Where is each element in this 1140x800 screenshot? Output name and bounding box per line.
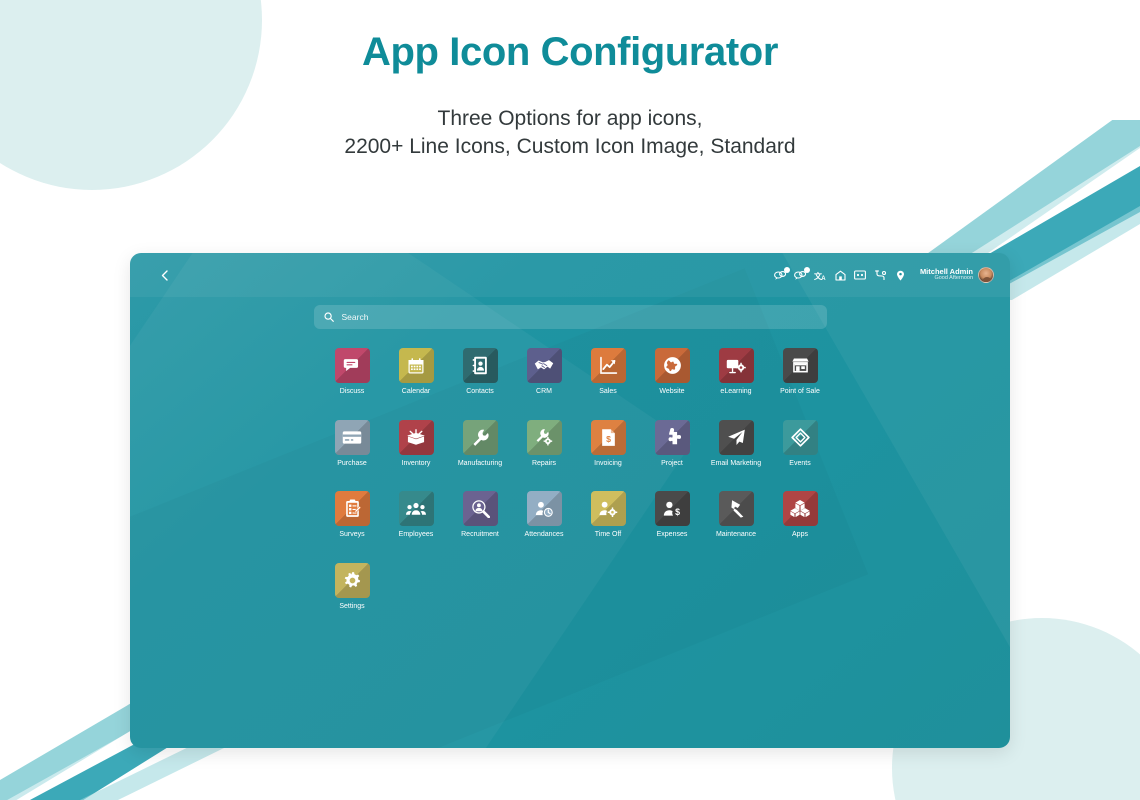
app-icon-surveys[interactable]: Surveys [320,491,384,539]
storefront-icon[interactable] [783,348,818,383]
app-icon-employees[interactable]: Employees [384,491,448,539]
search-row [130,305,1010,329]
window-header: 文 A [130,253,1010,297]
svg-text:A: A [821,276,826,281]
app-icon-contacts[interactable]: Contacts [448,348,512,396]
app-icon-invoicing[interactable]: $Invoicing [576,420,640,468]
app-label: Inventory [402,460,431,468]
app-label: Time Off [595,531,621,539]
app-label: Purchase [337,460,367,468]
user-menu[interactable]: Mitchell Admin Good Afternoon [920,267,994,283]
search-bar[interactable] [314,305,827,329]
app-label: Website [659,388,684,396]
app-icon-project[interactable]: Project [640,420,704,468]
svg-text:$: $ [606,434,611,444]
app-icon-crm[interactable]: CRM [512,348,576,396]
globe-icon[interactable] [655,348,690,383]
chart-arrow-up-icon[interactable] [591,348,626,383]
magnifier-person-icon[interactable] [463,491,498,526]
person-dollar-icon[interactable]: $ [655,491,690,526]
credit-card-icon[interactable] [335,420,370,455]
people-group-icon[interactable] [399,491,434,526]
app-label: Email Marketing [711,460,761,468]
app-label: Invoicing [594,460,622,468]
wrench-gear-icon[interactable] [527,420,562,455]
company-icon[interactable] [834,269,847,282]
app-label: Calendar [402,388,430,396]
handshake-icon[interactable] [527,348,562,383]
hammer-icon[interactable] [719,491,754,526]
app-icon-calendar[interactable]: Calendar [384,348,448,396]
svg-text:$: $ [675,507,680,517]
page-subtitle: Three Options for app icons, 2200+ Line … [0,105,1140,161]
address-book-icon[interactable] [463,348,498,383]
decorative-circle-top-left [0,0,262,190]
app-icon-grid: DiscussCalendarContactsCRMSalesWebsiteeL… [130,348,1010,611]
app-icon-events[interactable]: Events [768,420,832,468]
app-label: eLearning [720,388,751,396]
app-label: Contacts [466,388,494,396]
app-icon-expenses[interactable]: $Expenses [640,491,704,539]
ticket-icon[interactable] [783,420,818,455]
paper-plane-icon[interactable] [719,420,754,455]
app-label: Point of Sale [780,388,820,396]
app-icon-sales[interactable]: Sales [576,348,640,396]
app-icon-inventory[interactable]: Inventory [384,420,448,468]
chevron-left-icon[interactable] [156,267,172,283]
app-label: Surveys [339,531,364,539]
user-text: Mitchell Admin Good Afternoon [920,268,973,282]
app-icon-apps[interactable]: Apps [768,491,832,539]
location-pin-icon[interactable] [894,269,907,282]
app-icon-manufacturing[interactable]: Manufacturing [448,420,512,468]
app-icon-repairs[interactable]: Repairs [512,420,576,468]
app-label: Maintenance [716,531,756,539]
app-label: Discuss [340,388,365,396]
subtitle-line-2: 2200+ Line Icons, Custom Icon Image, Sta… [0,133,1140,161]
app-icon-time-off[interactable]: Time Off [576,491,640,539]
activities-badge [804,267,810,273]
app-icon-maintenance[interactable]: Maintenance [704,491,768,539]
header-actions: 文 A [774,267,994,283]
app-label: Recruitment [461,531,499,539]
app-label: Attendances [525,531,564,539]
app-label: Repairs [532,460,556,468]
app-label: Project [661,460,683,468]
presentation-gear-icon[interactable] [719,348,754,383]
search-input[interactable] [342,312,817,322]
app-icon-email-marketing[interactable]: Email Marketing [704,420,768,468]
app-icon-purchase[interactable]: Purchase [320,420,384,468]
app-window: 文 A [130,253,1010,748]
app-label: Manufacturing [458,460,502,468]
chat-bubbles-icon[interactable] [335,348,370,383]
app-label: Events [789,460,810,468]
puzzle-piece-icon[interactable] [655,420,690,455]
messages-badge [784,267,790,273]
debug-icon[interactable] [874,269,887,282]
person-gear-icon[interactable] [591,491,626,526]
cubes-icon[interactable] [783,491,818,526]
app-icon-website[interactable]: Website [640,348,704,396]
person-clock-icon[interactable] [527,491,562,526]
calendar-icon[interactable] [399,348,434,383]
clipboard-pencil-icon[interactable] [335,491,370,526]
gear-icon[interactable] [335,563,370,598]
app-icon-settings[interactable]: Settings [320,563,384,611]
app-label: CRM [536,388,552,396]
activities-icon[interactable] [794,269,807,282]
search-icon [324,312,334,322]
app-label: Sales [599,388,617,396]
invoice-dollar-icon[interactable]: $ [591,420,626,455]
open-box-icon[interactable] [399,420,434,455]
app-icon-attendances[interactable]: Attendances [512,491,576,539]
app-icon-discuss[interactable]: Discuss [320,348,384,396]
apps-grid-icon[interactable] [854,269,867,282]
app-label: Settings [339,603,364,611]
messages-icon[interactable] [774,269,787,282]
wrench-icon[interactable] [463,420,498,455]
avatar[interactable] [978,267,994,283]
app-icon-elearning[interactable]: eLearning [704,348,768,396]
app-label: Expenses [657,531,688,539]
app-icon-recruitment[interactable]: Recruitment [448,491,512,539]
translate-icon[interactable]: 文 A [814,269,827,282]
page-title: App Icon Configurator [0,30,1140,75]
app-label: Apps [792,531,808,539]
app-label: Employees [399,531,434,539]
page-root: App Icon Configurator Three Options for … [0,0,1140,800]
subtitle-line-1: Three Options for app icons, [0,105,1140,133]
user-greeting: Good Afternoon [920,276,973,282]
app-icon-point-of-sale[interactable]: Point of Sale [768,348,832,396]
